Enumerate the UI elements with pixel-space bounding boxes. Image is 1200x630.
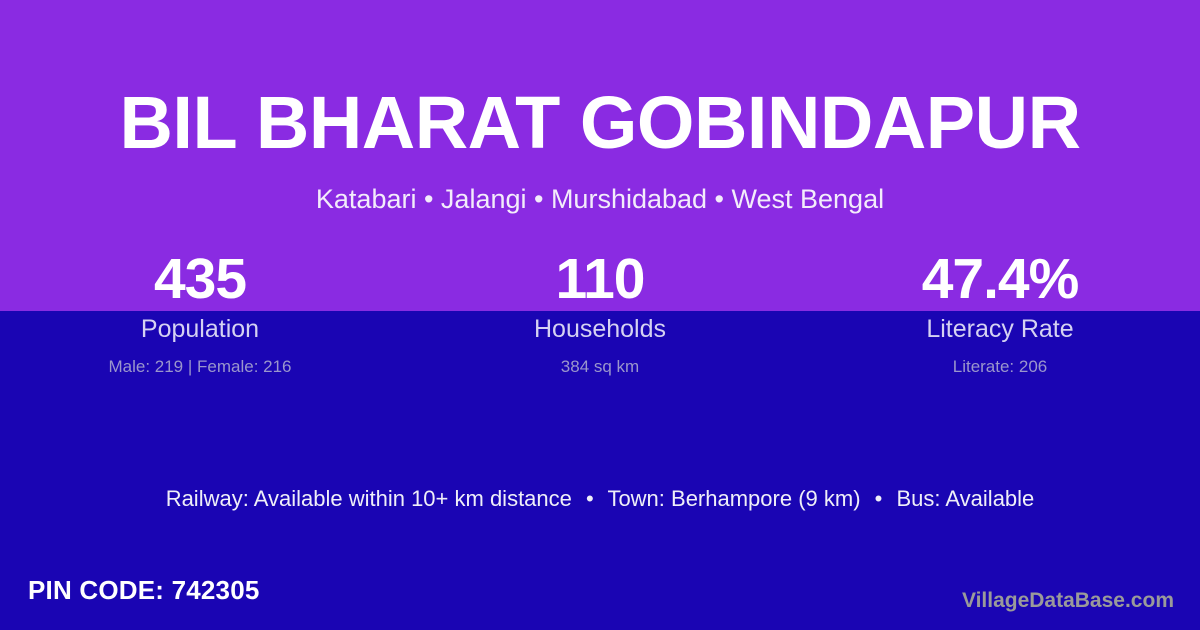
infra-separator-1: •: [578, 486, 602, 511]
infra-railway: Railway: Available within 10+ km distanc…: [166, 486, 572, 511]
stats-row: 435 Population Male: 219 | Female: 216 1…: [0, 246, 1200, 379]
card-content: BIL BHARAT GOBINDAPUR Katabari • Jalangi…: [0, 0, 1200, 630]
stat-label-households: Households: [400, 313, 800, 345]
stat-detail-households: 384 sq km: [400, 355, 800, 379]
stat-value-households: 110: [400, 246, 800, 312]
infra-bus: Bus: Available: [896, 486, 1034, 511]
infra-separator-2: •: [867, 486, 891, 511]
stat-literacy-rate: 47.4% Literacy Rate Literate: 206: [800, 246, 1200, 379]
stat-value-population: 435: [0, 246, 400, 312]
stat-label-literacy-rate: Literacy Rate: [800, 313, 1200, 345]
stat-households: 110 Households 384 sq km: [400, 246, 800, 379]
pin-code: PIN CODE: 742305: [28, 574, 260, 606]
infrastructure-line: Railway: Available within 10+ km distanc…: [0, 484, 1200, 514]
stat-detail-literacy-rate: Literate: 206: [800, 355, 1200, 379]
village-info-card: BIL BHARAT GOBINDAPUR Katabari • Jalangi…: [0, 0, 1200, 630]
breadcrumb: Katabari • Jalangi • Murshidabad • West …: [0, 182, 1200, 216]
stat-detail-population: Male: 219 | Female: 216: [0, 355, 400, 379]
brand-watermark: VillageDataBase.com: [962, 588, 1174, 614]
stat-label-population: Population: [0, 313, 400, 345]
infra-town: Town: Berhampore (9 km): [607, 486, 860, 511]
page-title: BIL BHARAT GOBINDAPUR: [0, 81, 1200, 165]
stat-population: 435 Population Male: 219 | Female: 216: [0, 246, 400, 379]
stat-value-literacy-rate: 47.4%: [800, 246, 1200, 312]
